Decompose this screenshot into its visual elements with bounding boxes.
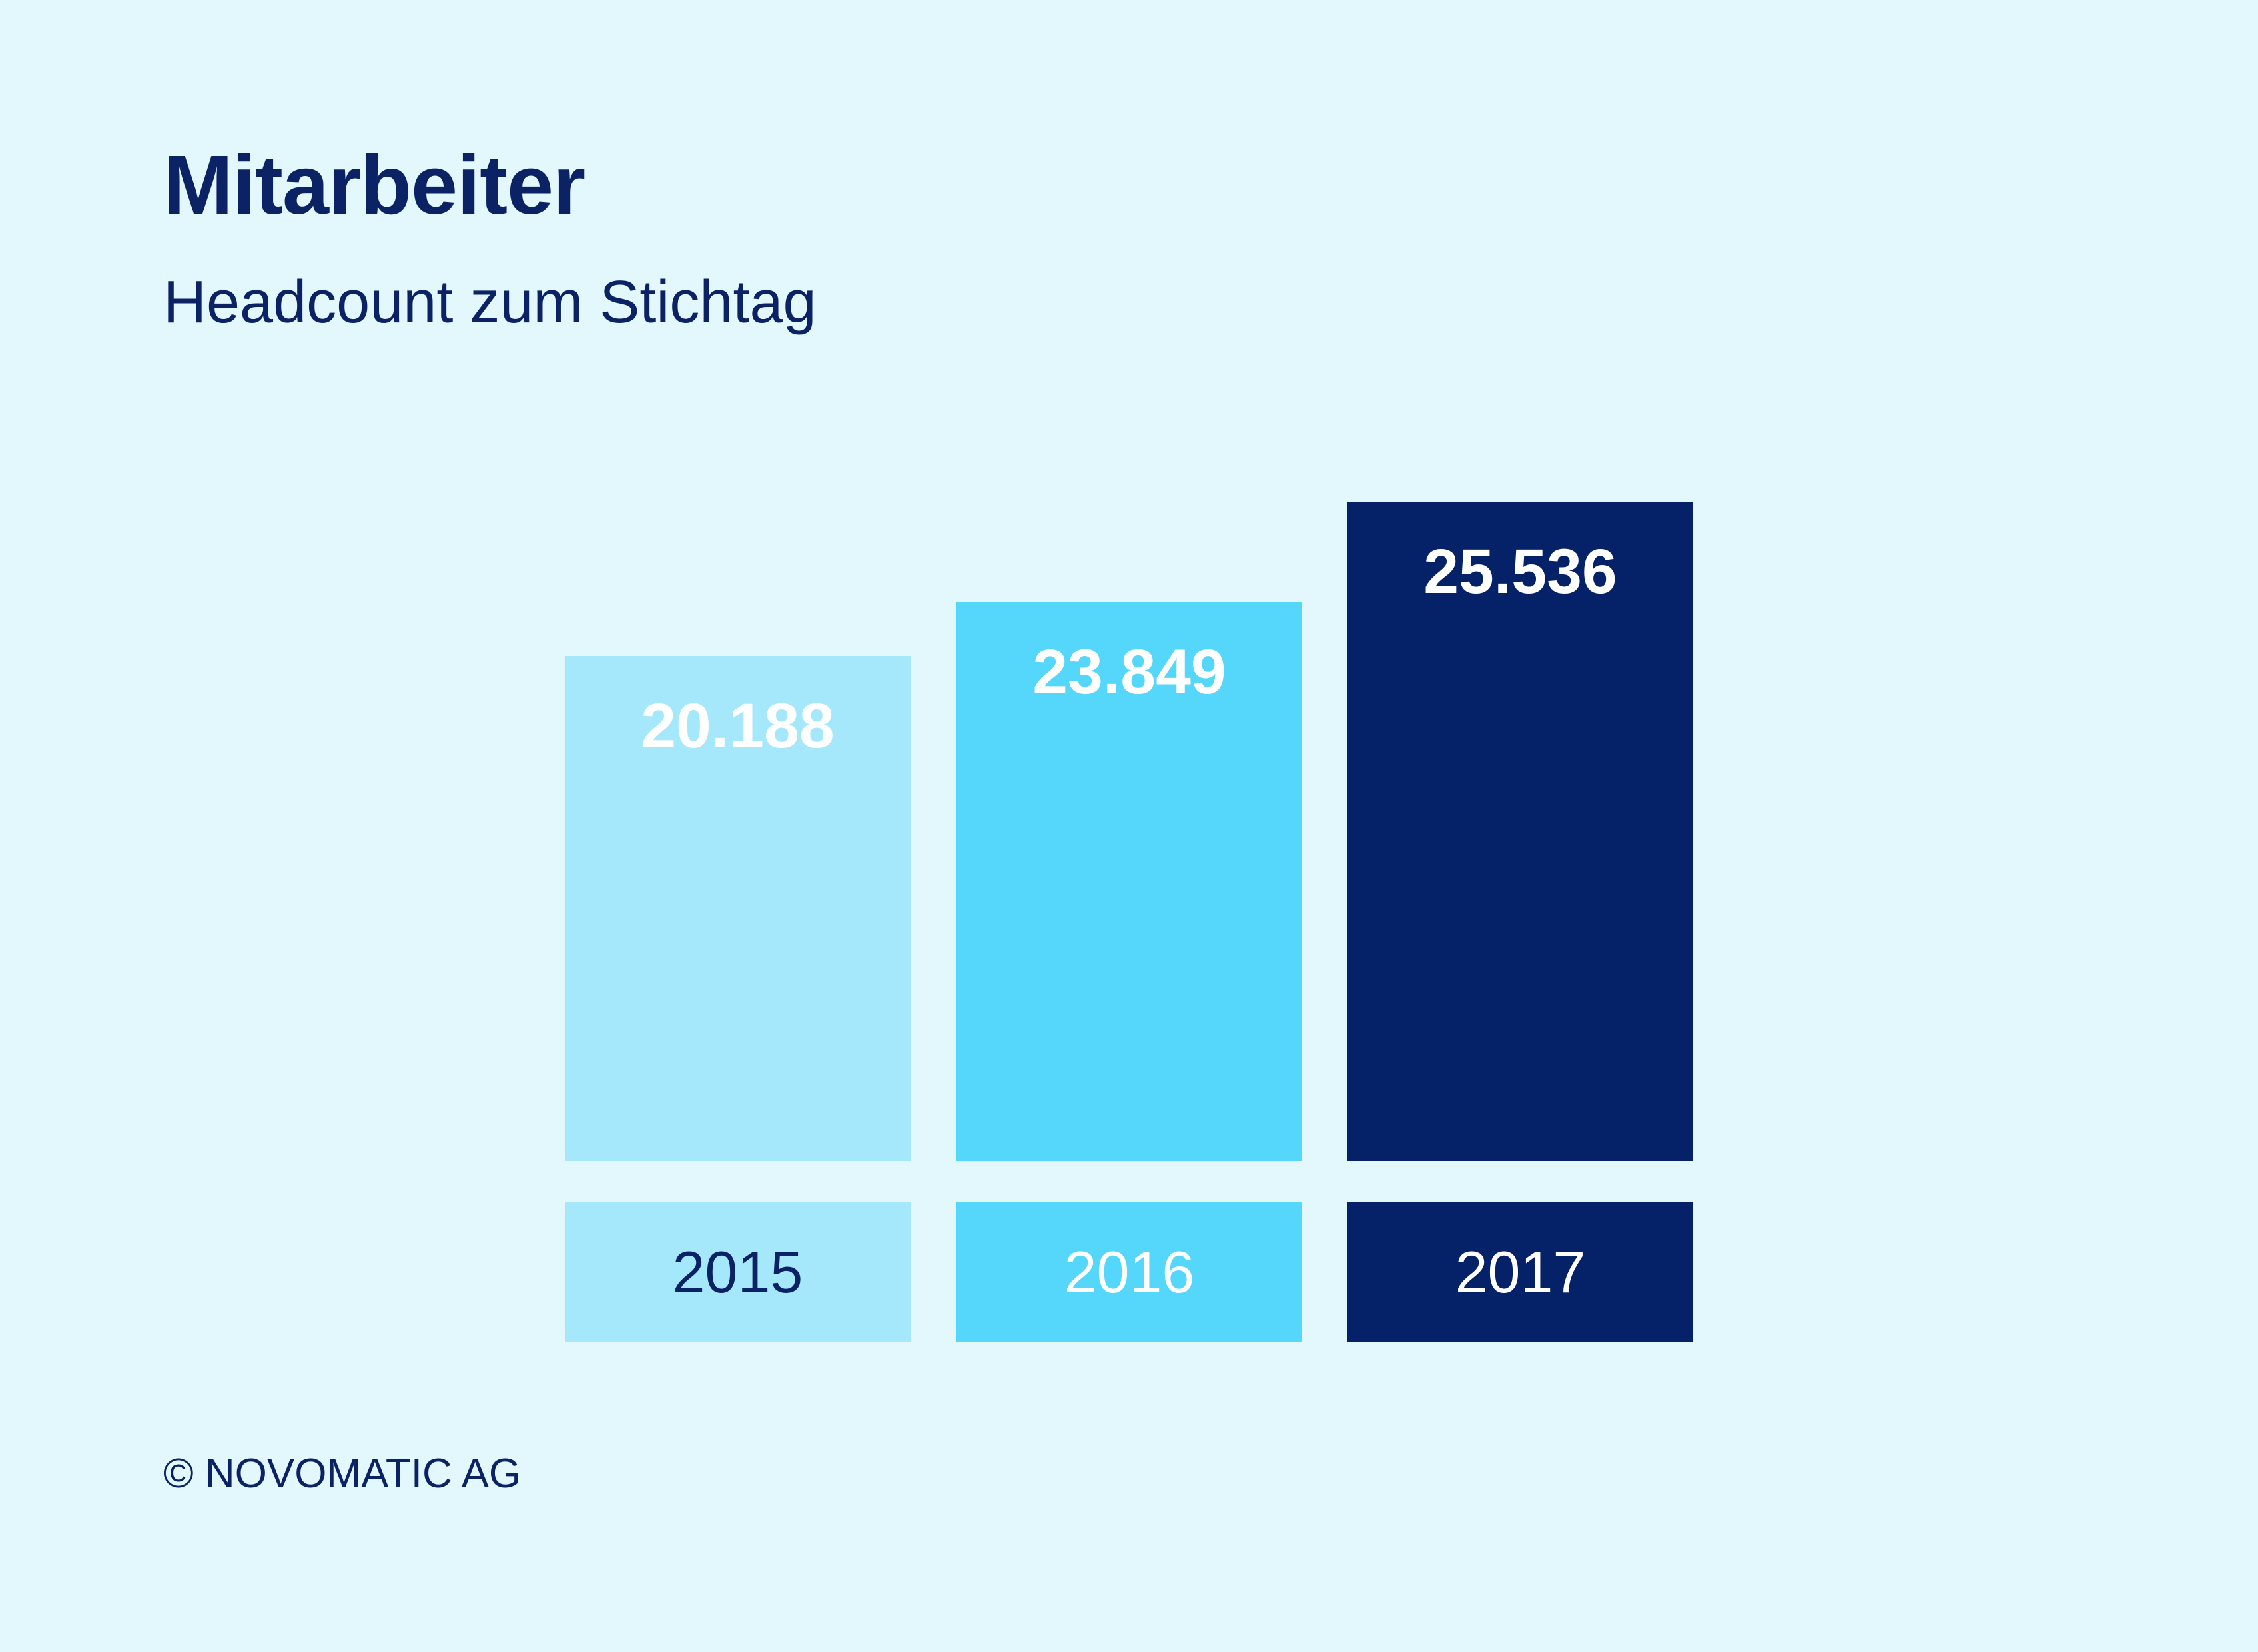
bar-chart-plot-area: 20.188 2015 23.849 2016 25.536 2017 bbox=[0, 0, 2258, 1652]
year-label-2016: 2016 bbox=[956, 1202, 1302, 1342]
year-box-2017[interactable]: 2017 bbox=[1347, 1202, 1693, 1342]
bar-value-label-2017: 25.536 bbox=[1347, 540, 1693, 604]
year-label-2015: 2015 bbox=[565, 1202, 911, 1342]
bar-value-label-2016: 23.849 bbox=[956, 641, 1302, 704]
bar-value-label-2015: 20.188 bbox=[565, 695, 911, 758]
year-label-2017: 2017 bbox=[1347, 1202, 1693, 1342]
year-box-2015[interactable]: 2015 bbox=[565, 1202, 911, 1342]
infographic-canvas: Mitarbeiter Headcount zum Stichtag 20.18… bbox=[0, 0, 2258, 1652]
copyright-credit: © NOVOMATIC AG bbox=[163, 1453, 521, 1495]
year-box-2016[interactable]: 2016 bbox=[956, 1202, 1302, 1342]
